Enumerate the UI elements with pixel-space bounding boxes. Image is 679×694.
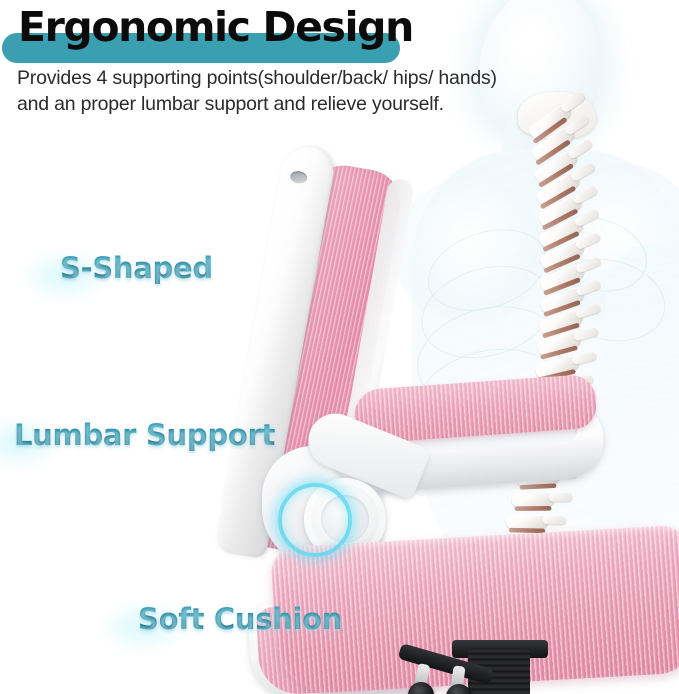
highlight-ring-icon bbox=[278, 483, 352, 557]
callout-label: Lumbar Support bbox=[14, 418, 275, 452]
callout-label: S-Shaped bbox=[60, 251, 213, 285]
page-subtitle: Provides 4 supporting points(shoulder/ba… bbox=[17, 66, 597, 118]
subtitle-line-2: and an proper lumbar support and relieve… bbox=[17, 92, 597, 118]
callout-label: Soft Cushion bbox=[138, 602, 342, 636]
subtitle-line-1: Provides 4 supporting points(shoulder/ba… bbox=[17, 66, 597, 92]
infographic-page: Ergonomic Design Provides 4 supporting p… bbox=[0, 0, 679, 694]
page-title: Ergonomic Design bbox=[18, 4, 413, 52]
